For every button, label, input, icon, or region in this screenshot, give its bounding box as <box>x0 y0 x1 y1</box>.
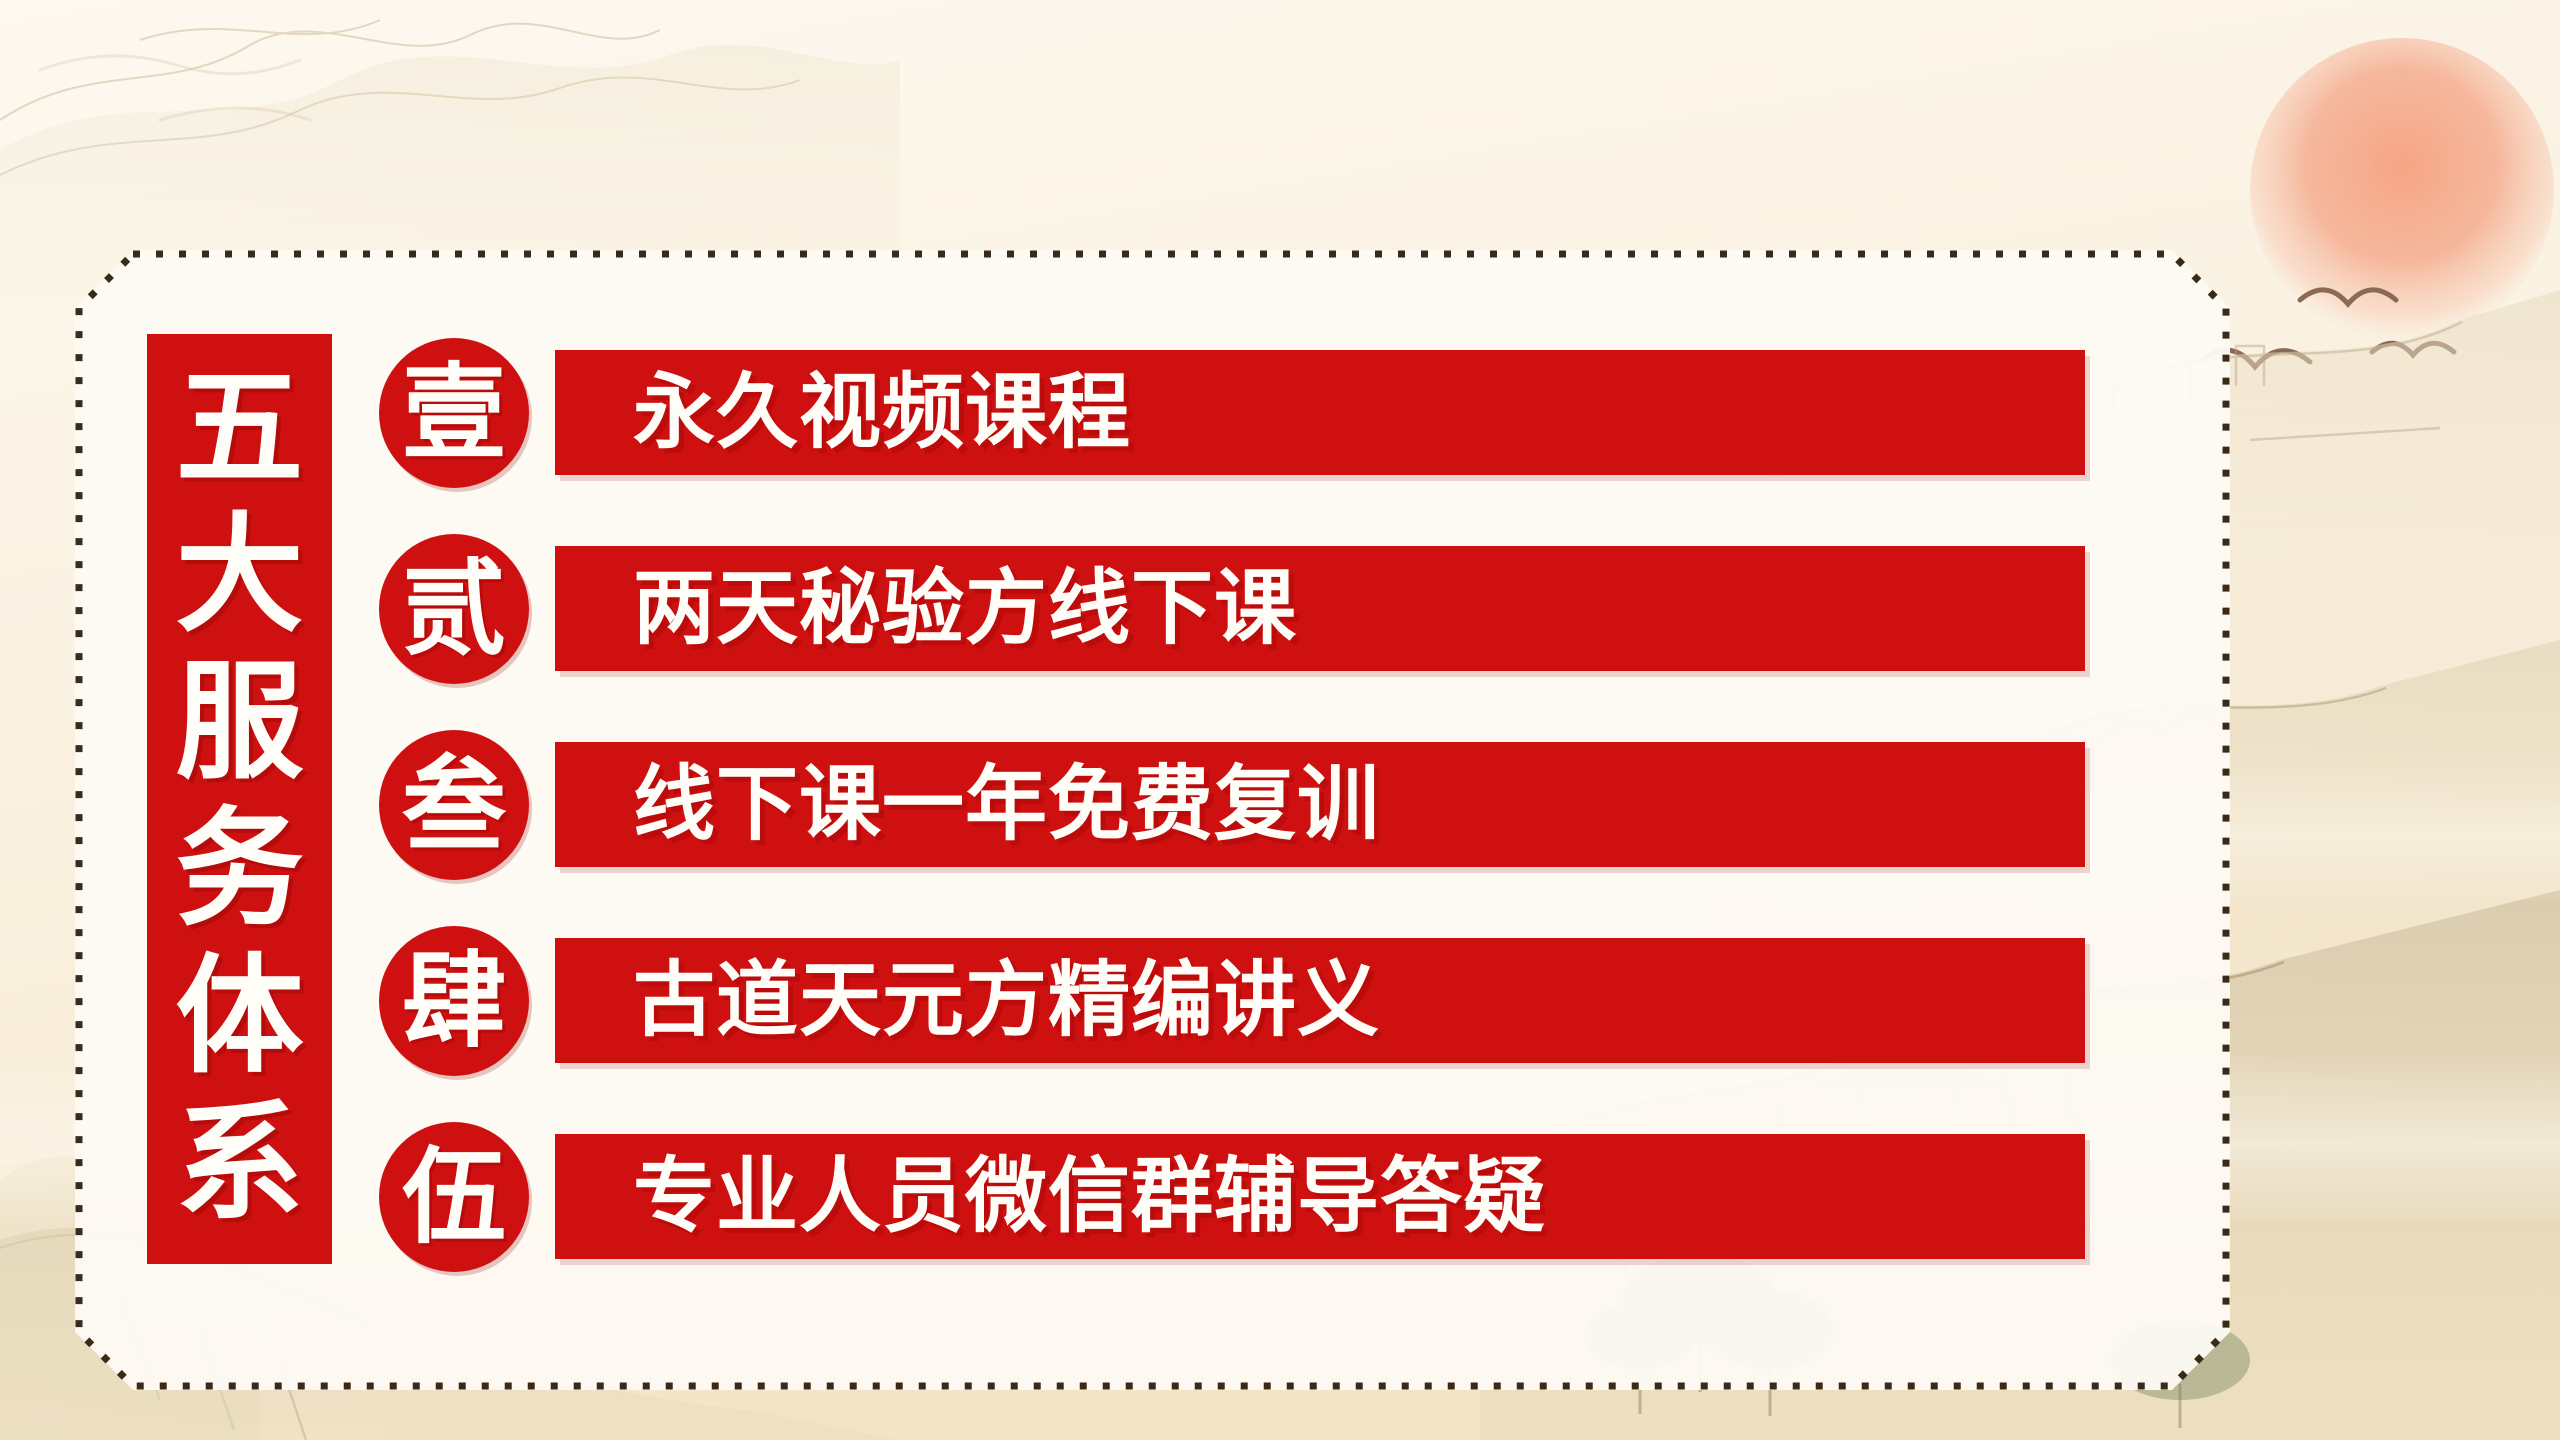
title-char-3: 服 <box>175 662 303 785</box>
title-char-6: 系 <box>175 1103 303 1226</box>
service-bar-2-label: 两天秘验方线下课 <box>555 568 1297 650</box>
service-bar-list: 永久视频课程 两天秘验方线下课 线下课一年免费复训 古道天元方精编讲义 专业人员… <box>555 330 2155 1330</box>
vertical-title-banner: 五 大 服 务 体 系 <box>147 334 332 1264</box>
title-char-5: 体 <box>175 956 303 1079</box>
service-bar-2[interactable]: 两天秘验方线下课 <box>555 546 2085 671</box>
numeral-badge-column: 壹 贰 叁 肆 伍 <box>375 330 545 1330</box>
numeral-badge-4: 肆 <box>379 926 529 1076</box>
service-bar-5[interactable]: 专业人员微信群辅导答疑 <box>555 1134 2085 1259</box>
service-bar-3[interactable]: 线下课一年免费复训 <box>555 742 2085 867</box>
title-char-4: 务 <box>175 809 303 932</box>
service-bar-4-label: 古道天元方精编讲义 <box>555 960 1380 1042</box>
title-char-2: 大 <box>175 515 303 638</box>
service-bar-4[interactable]: 古道天元方精编讲义 <box>555 938 2085 1063</box>
numeral-badge-2: 贰 <box>379 534 529 684</box>
service-bar-1[interactable]: 永久视频课程 <box>555 350 2085 475</box>
title-char-1: 五 <box>175 368 303 491</box>
sun-icon <box>2250 38 2554 342</box>
service-bar-3-label: 线下课一年免费复训 <box>555 764 1380 846</box>
numeral-badge-1: 壹 <box>379 338 529 488</box>
numeral-badge-5: 伍 <box>379 1122 529 1272</box>
service-bar-1-label: 永久视频课程 <box>555 372 1131 454</box>
service-bar-5-label: 专业人员微信群辅导答疑 <box>555 1156 1546 1238</box>
numeral-badge-3: 叁 <box>379 730 529 880</box>
